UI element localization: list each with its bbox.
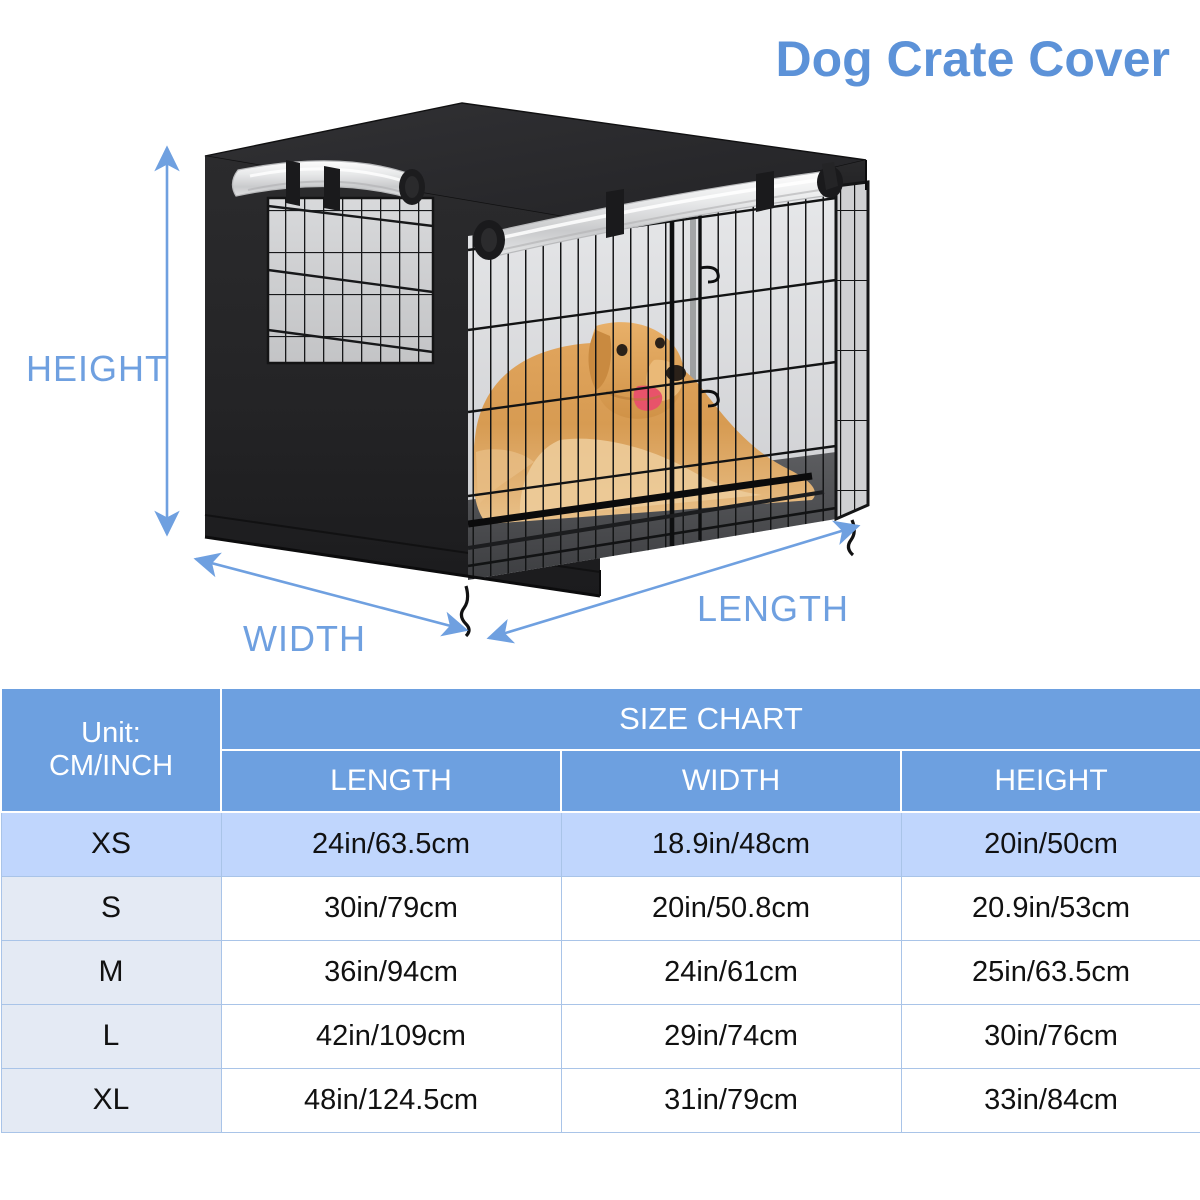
height-dimension-label: HEIGHT <box>26 348 168 390</box>
row-length-value: 48in/124.5cm <box>221 1068 561 1132</box>
table-row: XS 24in/63.5cm 18.9in/48cm 20in/50cm <box>1 812 1200 876</box>
row-width-value: 24in/61cm <box>561 940 901 1004</box>
column-header-height: HEIGHT <box>901 750 1200 812</box>
row-size-label: L <box>1 1004 221 1068</box>
row-width-value: 20in/50.8cm <box>561 876 901 940</box>
row-length-value: 42in/109cm <box>221 1004 561 1068</box>
row-height-value: 30in/76cm <box>901 1004 1200 1068</box>
row-height-value: 25in/63.5cm <box>901 940 1200 1004</box>
product-image-panel: Dog Crate Cover <box>0 0 1200 687</box>
table-row: S 30in/79cm 20in/50.8cm 20.9in/53cm <box>1 876 1200 940</box>
row-height-value: 20in/50cm <box>901 812 1200 876</box>
size-chart-table: Unit: CM/INCH SIZE CHART LENGTH WIDTH HE… <box>0 687 1200 1133</box>
row-length-value: 24in/63.5cm <box>221 812 561 876</box>
row-size-label: XL <box>1 1068 221 1132</box>
table-row: M 36in/94cm 24in/61cm 25in/63.5cm <box>1 940 1200 1004</box>
unit-header: Unit: CM/INCH <box>1 688 221 812</box>
row-size-label: S <box>1 876 221 940</box>
row-length-value: 30in/79cm <box>221 876 561 940</box>
row-width-value: 18.9in/48cm <box>561 812 901 876</box>
width-dimension-label: WIDTH <box>243 618 366 660</box>
table-row: L 42in/109cm 29in/74cm 30in/76cm <box>1 1004 1200 1068</box>
row-size-label: M <box>1 940 221 1004</box>
table-row: XL 48in/124.5cm 31in/79cm 33in/84cm <box>1 1068 1200 1132</box>
size-chart-title: SIZE CHART <box>221 688 1200 750</box>
row-length-value: 36in/94cm <box>221 940 561 1004</box>
column-header-width: WIDTH <box>561 750 901 812</box>
length-dimension-label: LENGTH <box>697 588 849 630</box>
row-size-label: XS <box>1 812 221 876</box>
unit-header-line1: Unit: <box>81 717 141 749</box>
row-width-value: 31in/79cm <box>561 1068 901 1132</box>
unit-header-line2: CM/INCH <box>49 750 173 782</box>
row-width-value: 29in/74cm <box>561 1004 901 1068</box>
row-height-value: 20.9in/53cm <box>901 876 1200 940</box>
row-height-value: 33in/84cm <box>901 1068 1200 1132</box>
dog-crate-cover-illustration <box>0 0 1200 687</box>
column-header-length: LENGTH <box>221 750 561 812</box>
